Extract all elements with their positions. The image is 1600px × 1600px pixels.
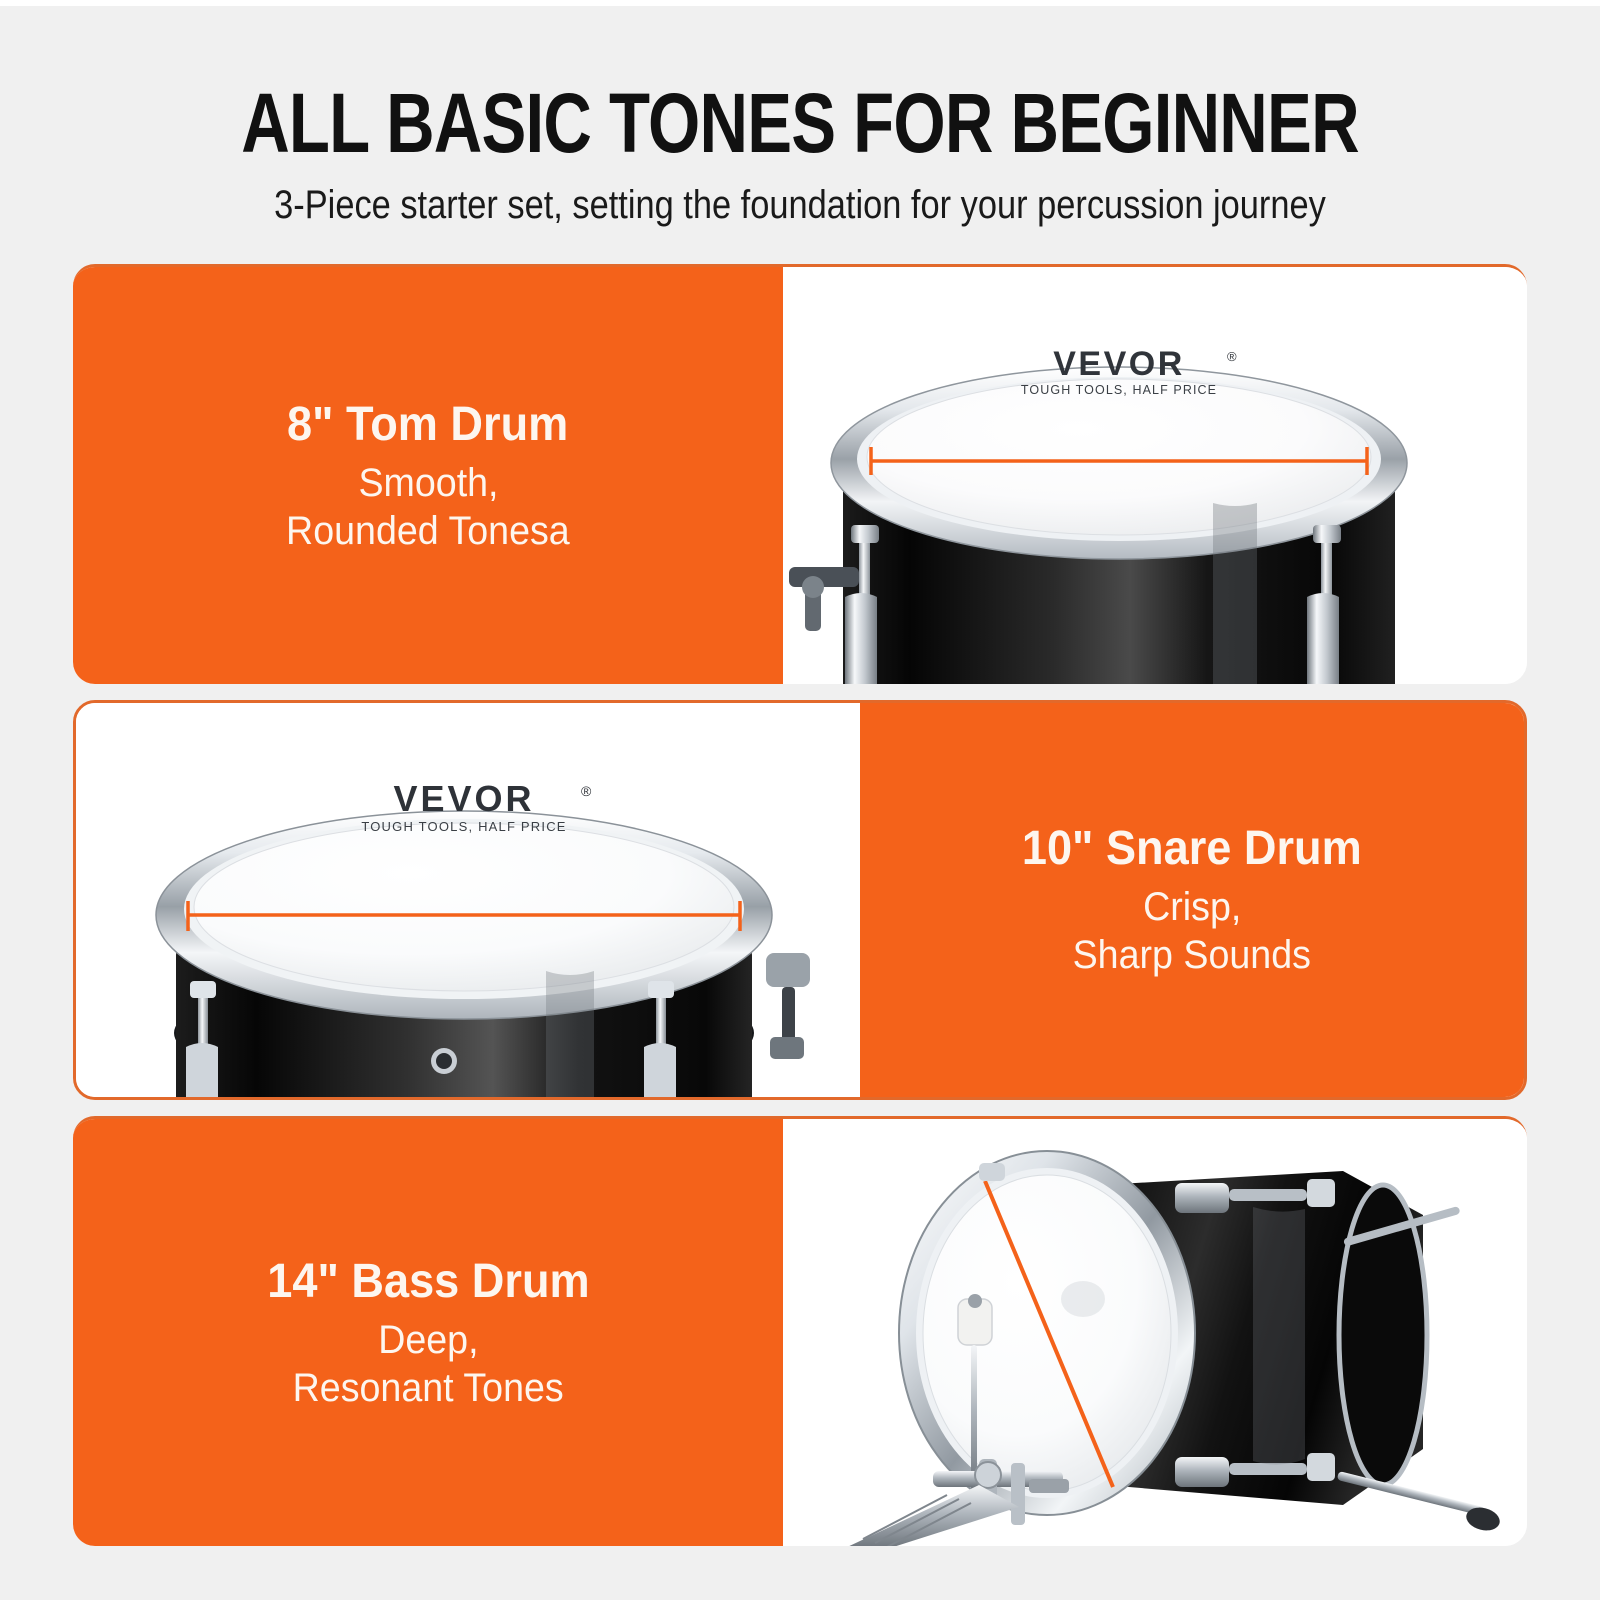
snare-air-vent xyxy=(431,1048,457,1074)
feature-panel-snare-drum: VEVOR ® TOUGH TOOLS, HALF PRICE xyxy=(73,700,1527,1100)
vevor-registered-icon: ® xyxy=(1227,349,1237,364)
feature-desc-line2-snare-drum: Sharp Sounds xyxy=(1073,931,1311,979)
vevor-tagline: TOUGH TOOLS, HALF PRICE xyxy=(361,819,566,834)
feature-image-tom-drum: VEVOR ® TOUGH TOOLS, HALF PRICE xyxy=(783,267,1527,684)
feature-title-bass-drum: 14" Bass Drum xyxy=(267,1254,589,1310)
feature-text-bass-drum: 14" Bass Drum Deep, Resonant Tones xyxy=(73,1119,783,1546)
bass-drum-illustration xyxy=(783,1119,1527,1546)
snare-drum-illustration: VEVOR ® TOUGH TOOLS, HALF PRICE xyxy=(76,703,860,1097)
feature-desc-line1-snare-drum: Crisp, xyxy=(1143,883,1241,931)
infographic-page: ALL BASIC TONES FOR BEGINNER 3-Piece sta… xyxy=(0,0,1600,1600)
vevor-tagline: TOUGH TOOLS, HALF PRICE xyxy=(1021,383,1217,397)
page-title: ALL BASIC TONES FOR BEGINNER xyxy=(160,78,1440,168)
feature-panel-tom-drum: 8" Tom Drum Smooth, Rounded Tonesa xyxy=(73,264,1527,684)
vevor-logo-text: VEVOR xyxy=(393,778,534,819)
feature-image-bass-drum xyxy=(783,1119,1527,1546)
tom-drum-illustration: VEVOR ® TOUGH TOOLS, HALF PRICE xyxy=(783,267,1527,684)
feature-desc-line2-tom-drum: Rounded Tonesa xyxy=(286,507,570,555)
bass-claw-upper-left xyxy=(979,1163,1005,1181)
feature-desc-line1-bass-drum: Deep, xyxy=(378,1316,478,1364)
snare-strainer xyxy=(766,953,810,1059)
feature-text-tom-drum: 8" Tom Drum Smooth, Rounded Tonesa xyxy=(73,267,783,684)
vevor-logo: VEVOR ® TOUGH TOOLS, HALF PRICE xyxy=(361,778,592,834)
feature-title-tom-drum: 8" Tom Drum xyxy=(287,397,568,453)
feature-image-snare-drum: VEVOR ® TOUGH TOOLS, HALF PRICE xyxy=(76,703,860,1097)
vevor-registered-icon: ® xyxy=(581,783,592,799)
feature-title-snare-drum: 10" Snare Drum xyxy=(1022,821,1362,877)
feature-desc-line1-tom-drum: Smooth, xyxy=(358,459,498,507)
bass-pedal-footboard xyxy=(843,1485,1019,1546)
feature-desc-line2-bass-drum: Resonant Tones xyxy=(292,1364,563,1412)
snare-drumhead xyxy=(194,823,734,991)
top-edge-strip xyxy=(0,0,1600,6)
tom-drumhead xyxy=(867,379,1371,535)
feature-panel-bass-drum: 14" Bass Drum Deep, Resonant Tones xyxy=(73,1116,1527,1546)
header: ALL BASIC TONES FOR BEGINNER 3-Piece sta… xyxy=(0,78,1600,228)
feature-text-snare-drum: 10" Snare Drum Crisp, Sharp Sounds xyxy=(860,703,1524,1097)
page-subtitle: 3-Piece starter set, setting the foundat… xyxy=(112,182,1488,228)
vevor-logo-text: VEVOR xyxy=(1053,345,1185,383)
